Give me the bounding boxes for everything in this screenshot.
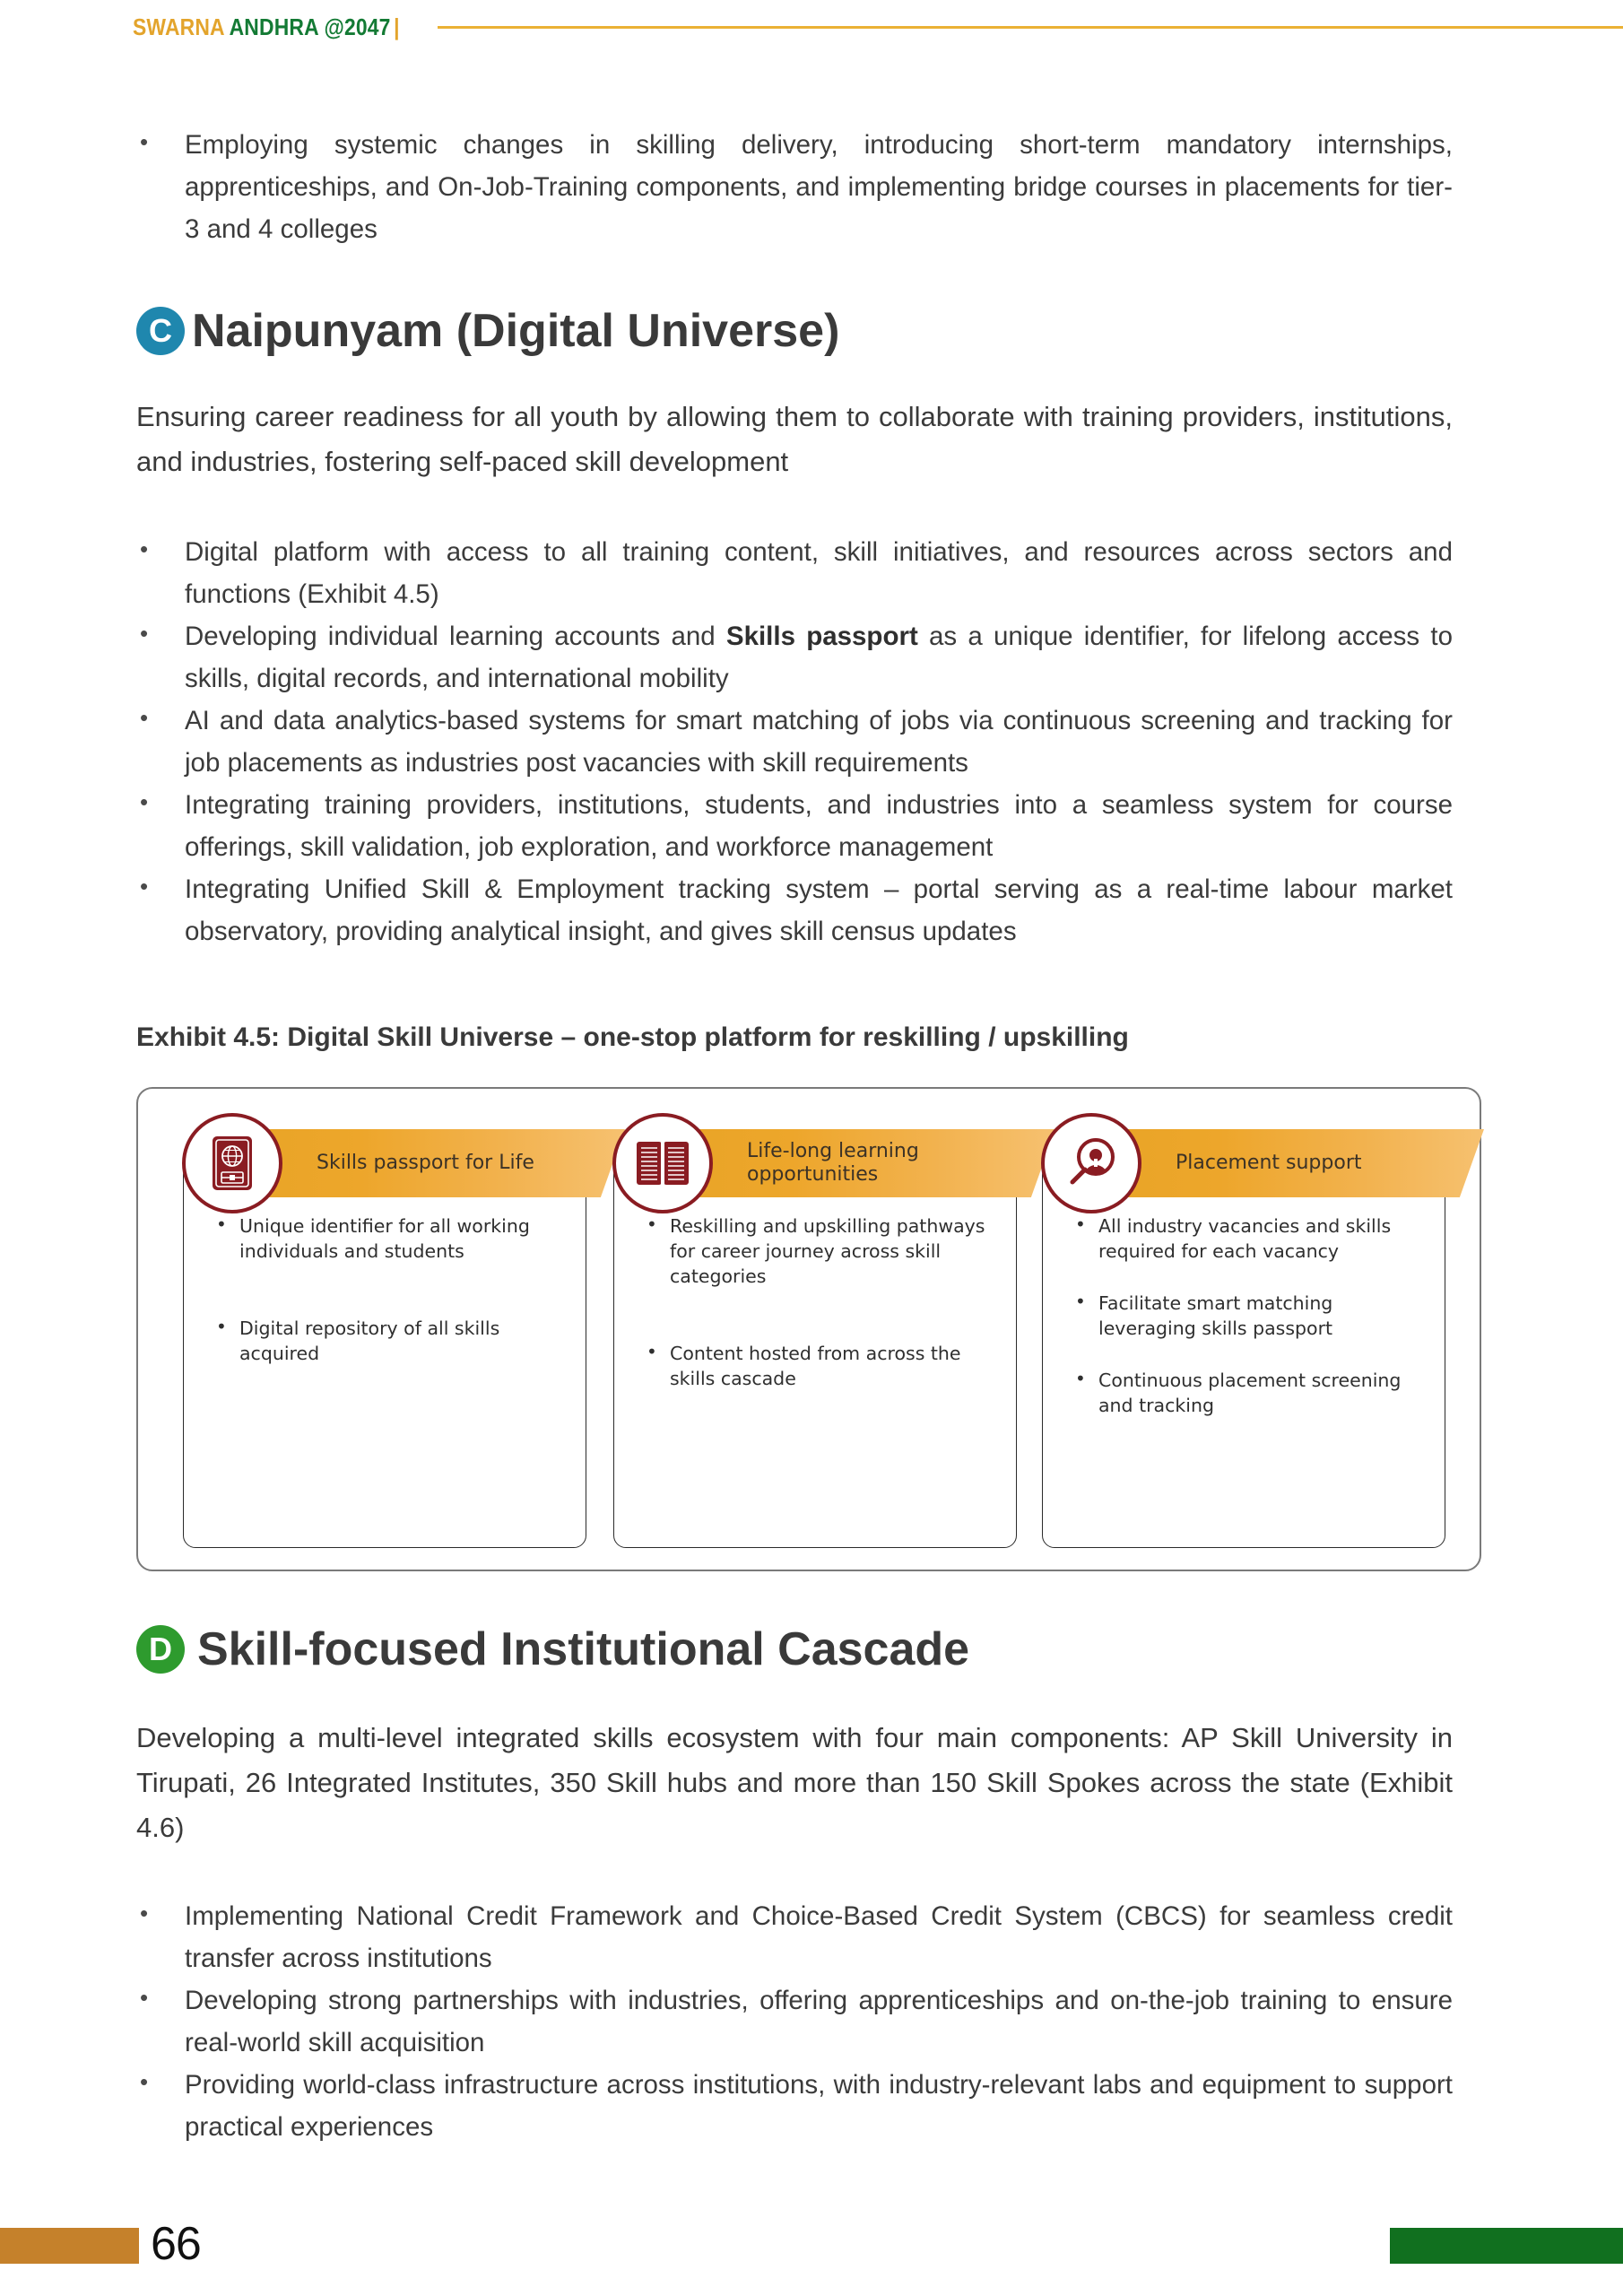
list-item: All industry vacancies and skills requir… [1073,1213,1427,1264]
brand-andhra: ANDHRA @2047 [230,13,391,40]
brand-pipe: | [394,13,400,40]
header-rule [438,26,1623,29]
section-title-c: Naipunyam (Digital Universe) [192,308,839,354]
card-body: Unique identifier for all working indivi… [184,1213,587,1418]
card-bullet-list: Reskilling and upskilling pathways for c… [645,1213,998,1391]
list-item: Integrating training providers, institut… [136,784,1453,868]
passport-icon [182,1113,282,1213]
list-item: Providing world-class infrastructure acr… [136,2064,1453,2148]
list-item: Developing strong partnerships with indu… [136,1979,1453,2064]
exhibit-card-placement-support: Placement support All ind [1042,1162,1445,1548]
list-item: Content hosted from across the skills ca… [645,1341,998,1391]
exhibit-container: Skills passport for Life [136,1087,1481,1571]
top-bullet-list: Employing systemic changes in skilling d… [136,124,1453,250]
bullet-bold-skills-passport: Skills passport [726,622,918,651]
section-d-bullet-list: Implementing National Credit Framework a… [136,1895,1453,2148]
list-item: Digital platform with access to all trai… [136,531,1453,615]
card-title: Skills passport for Life [317,1152,534,1175]
footer-bar-right [1390,2228,1623,2264]
list-item: Continuous placement screening and track… [1073,1368,1427,1418]
card-banner-wrap: Life-long learning opportunities [650,1129,1055,1197]
section-c-lead: Ensuring career readiness for all youth … [136,395,1453,484]
page-number: 66 [151,2217,201,2271]
section-d-lead: Developing a multi-level integrated skil… [136,1716,1453,1850]
card-bullet-list: All industry vacancies and skills requir… [1073,1213,1427,1418]
footer-bar-left [0,2228,139,2264]
magnifier-person-icon [1041,1113,1141,1213]
list-item: Employing systemic changes in skilling d… [136,124,1453,250]
card-title: Life-long learning opportunities [747,1140,1016,1187]
brand-title: SWARNA ANDHRA @2047| [133,13,400,41]
list-item: AI and data analytics-based systems for … [136,700,1453,784]
exhibit-card-lifelong-learning: Life-long learning opportunities [613,1162,1017,1548]
list-item: Implementing National Credit Framework a… [136,1895,1453,1979]
exhibit-card-skills-passport: Skills passport for Life [183,1162,586,1548]
card-title: Placement support [1176,1152,1362,1175]
list-item: Facilitate smart matching leveraging ski… [1073,1291,1427,1341]
card-body: All industry vacancies and skills requir… [1043,1213,1446,1445]
document-page: SWARNA ANDHRA @2047| Employing systemic … [0,0,1623,2296]
section-badge-c: C [136,307,185,355]
bullet-pre: Developing individual learning accounts … [185,622,726,651]
list-item: Integrating Unified Skill & Employment t… [136,868,1453,952]
section-heading-d: D Skill-focused Institutional Cascade [136,1625,969,1674]
section-heading-c: C Naipunyam (Digital Universe) [136,307,839,355]
section-badge-d: D [136,1625,185,1674]
exhibit-cards: Skills passport for Life [138,1089,1483,1573]
brand-swarna: SWARNA [133,13,224,40]
section-c-bullet-list: Digital platform with access to all trai… [136,531,1453,952]
list-item: Unique identifier for all working indivi… [214,1213,568,1264]
open-book-icon [612,1113,713,1213]
card-bullet-list: Unique identifier for all working indivi… [214,1213,568,1366]
list-item: Developing individual learning accounts … [136,615,1453,700]
list-item: Reskilling and upskilling pathways for c… [645,1213,998,1289]
card-banner-wrap: Placement support [1079,1129,1484,1197]
list-item: Digital repository of all skills acquire… [214,1316,568,1366]
section-title-d: Skill-focused Institutional Cascade [197,1626,969,1673]
page-header: SWARNA ANDHRA @2047| [0,0,1623,54]
card-body: Reskilling and upskilling pathways for c… [614,1213,1018,1443]
exhibit-caption: Exhibit 4.5: Digital Skill Universe – on… [136,1022,1129,1053]
card-banner-wrap: Skills passport for Life [220,1129,625,1197]
